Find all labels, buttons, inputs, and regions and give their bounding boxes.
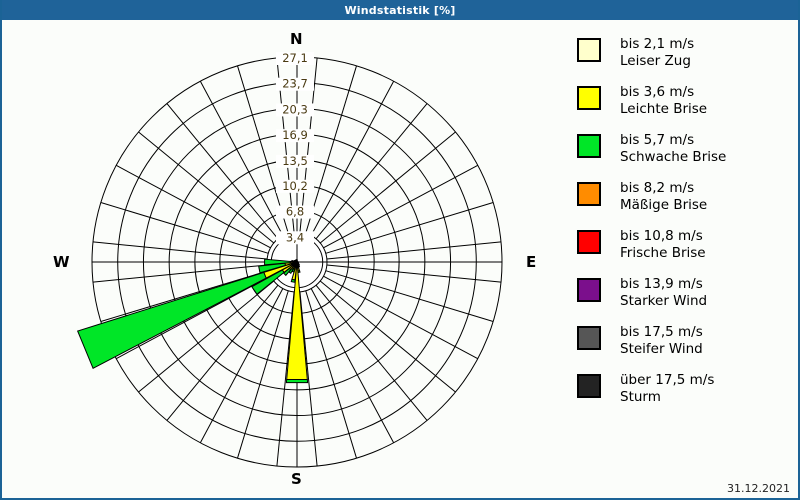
window-title: Windstatistik [%] (344, 4, 455, 17)
legend-color-swatch (577, 182, 601, 206)
legend-speed-label: bis 5,7 m/s (620, 132, 726, 149)
legend-label-group: bis 2,1 m/sLeiser Zug (620, 36, 694, 70)
legend-speed-label: bis 3,6 m/s (620, 84, 707, 101)
legend-label-group: über 17,5 m/sSturm (620, 372, 714, 406)
radial-tick-label: 13,5 (282, 154, 308, 168)
legend-beaufort-name: Frische Brise (620, 245, 706, 262)
legend-speed-label: bis 13,9 m/s (620, 276, 707, 293)
legend-label-group: bis 13,9 m/sStarker Wind (620, 276, 707, 310)
legend-beaufort-name: Sturm (620, 389, 714, 406)
legend-color-swatch (577, 278, 601, 302)
legend-beaufort-name: Steifer Wind (620, 341, 703, 358)
legend-color-swatch (577, 134, 601, 158)
legend-item: bis 10,8 m/sFrische Brise (577, 228, 797, 269)
compass-label-west: W (53, 253, 70, 271)
legend-speed-label: bis 17,5 m/s (620, 324, 703, 341)
legend-item: bis 5,7 m/sSchwache Brise (577, 132, 797, 173)
wind-rose-svg: 3,46,810,213,516,920,323,727,1 (2, 20, 568, 498)
legend-label-group: bis 17,5 m/sSteifer Wind (620, 324, 703, 358)
radial-tick-label: 23,7 (282, 77, 308, 91)
radial-tick-label: 27,1 (282, 51, 308, 65)
compass-label-south: S (291, 470, 302, 488)
date-stamp: 31.12.2021 (727, 482, 790, 495)
legend-beaufort-name: Starker Wind (620, 293, 707, 310)
legend-item: bis 2,1 m/sLeiser Zug (577, 36, 797, 77)
legend-item: bis 3,6 m/sLeichte Brise (577, 84, 797, 125)
rose-petals (78, 259, 308, 382)
legend-label-group: bis 8,2 m/sMäßige Brise (620, 180, 707, 214)
legend-color-swatch (577, 326, 601, 350)
legend-beaufort-name: Leichte Brise (620, 101, 707, 118)
legend-item: bis 13,9 m/sStarker Wind (577, 276, 797, 317)
legend-color-swatch (577, 230, 601, 254)
radial-tick-label: 3,4 (286, 230, 304, 244)
wind-rose-petal-segment (286, 380, 307, 383)
wind-rose-chart: 3,46,810,213,516,920,323,727,1 N E S W (2, 20, 568, 498)
windstatistik-window: Windstatistik [%] 3,46,810,213,516,920,3… (0, 0, 800, 500)
legend-speed-label: bis 8,2 m/s (620, 180, 707, 197)
compass-label-east: E (526, 253, 536, 271)
legend-label-group: bis 5,7 m/sSchwache Brise (620, 132, 726, 166)
legend-item: bis 8,2 m/sMäßige Brise (577, 180, 797, 221)
compass-label-north: N (290, 30, 303, 48)
legend-color-swatch (577, 38, 601, 62)
legend-speed-label: bis 2,1 m/s (620, 36, 694, 53)
radial-tick-label: 6,8 (286, 205, 304, 219)
window-title-bar: Windstatistik [%] (0, 0, 800, 20)
radial-tick-label: 20,3 (282, 102, 308, 116)
wind-rose-petal-segment (291, 279, 295, 282)
legend-beaufort-name: Schwache Brise (620, 149, 726, 166)
legend: bis 2,1 m/sLeiser Zugbis 3,6 m/sLeichte … (577, 36, 797, 420)
legend-label-group: bis 10,8 m/sFrische Brise (620, 228, 706, 262)
legend-color-swatch (577, 86, 601, 110)
legend-speed-label: bis 10,8 m/s (620, 228, 706, 245)
radial-tick-label: 16,9 (282, 128, 308, 142)
legend-item: bis 17,5 m/sSteifer Wind (577, 324, 797, 365)
legend-beaufort-name: Mäßige Brise (620, 197, 707, 214)
legend-item: über 17,5 m/sSturm (577, 372, 797, 413)
legend-label-group: bis 3,6 m/sLeichte Brise (620, 84, 707, 118)
legend-color-swatch (577, 374, 601, 398)
radial-tick-label: 10,2 (282, 179, 308, 193)
legend-speed-label: über 17,5 m/s (620, 372, 714, 389)
legend-beaufort-name: Leiser Zug (620, 53, 694, 70)
